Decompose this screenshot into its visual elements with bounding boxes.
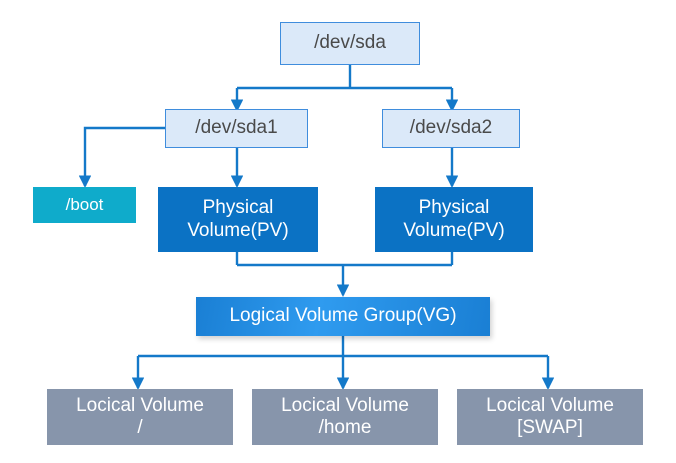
node-logical-volume-swap[interactable]: Locical Volume [SWAP] — [457, 389, 643, 445]
node-logical-volume-home[interactable]: Locical Volume /home — [252, 389, 438, 445]
node-physical-volume-1[interactable]: Physical Volume(PV) — [158, 187, 318, 252]
node-logical-volume-swap-label: Locical Volume [SWAP] — [486, 395, 614, 440]
node-boot-label: /boot — [66, 195, 104, 215]
node-dev-sda2[interactable]: /dev/sda2 — [382, 109, 520, 148]
node-physical-volume-2[interactable]: Physical Volume(PV) — [375, 187, 533, 252]
node-boot[interactable]: /boot — [33, 187, 136, 223]
node-physical-volume-2-label: Physical Volume(PV) — [403, 197, 504, 242]
node-physical-volume-1-label: Physical Volume(PV) — [187, 197, 288, 242]
edge-sda1-boot — [85, 128, 165, 186]
node-logical-volume-root-label: Locical Volume / — [76, 395, 204, 440]
node-volume-group[interactable]: Logical Volume Group(VG) — [196, 297, 490, 336]
lvm-diagram: /dev/sda /dev/sda1 /dev/sda2 /boot Physi… — [0, 0, 676, 463]
node-dev-sda-label: /dev/sda — [314, 32, 386, 54]
node-logical-volume-home-label: Locical Volume /home — [281, 395, 409, 440]
node-dev-sda2-label: /dev/sda2 — [410, 117, 492, 139]
node-logical-volume-root[interactable]: Locical Volume / — [47, 389, 233, 445]
node-dev-sda1[interactable]: /dev/sda1 — [165, 109, 308, 148]
node-dev-sda[interactable]: /dev/sda — [280, 22, 420, 65]
node-dev-sda1-label: /dev/sda1 — [195, 117, 277, 139]
node-volume-group-label: Logical Volume Group(VG) — [229, 305, 456, 327]
